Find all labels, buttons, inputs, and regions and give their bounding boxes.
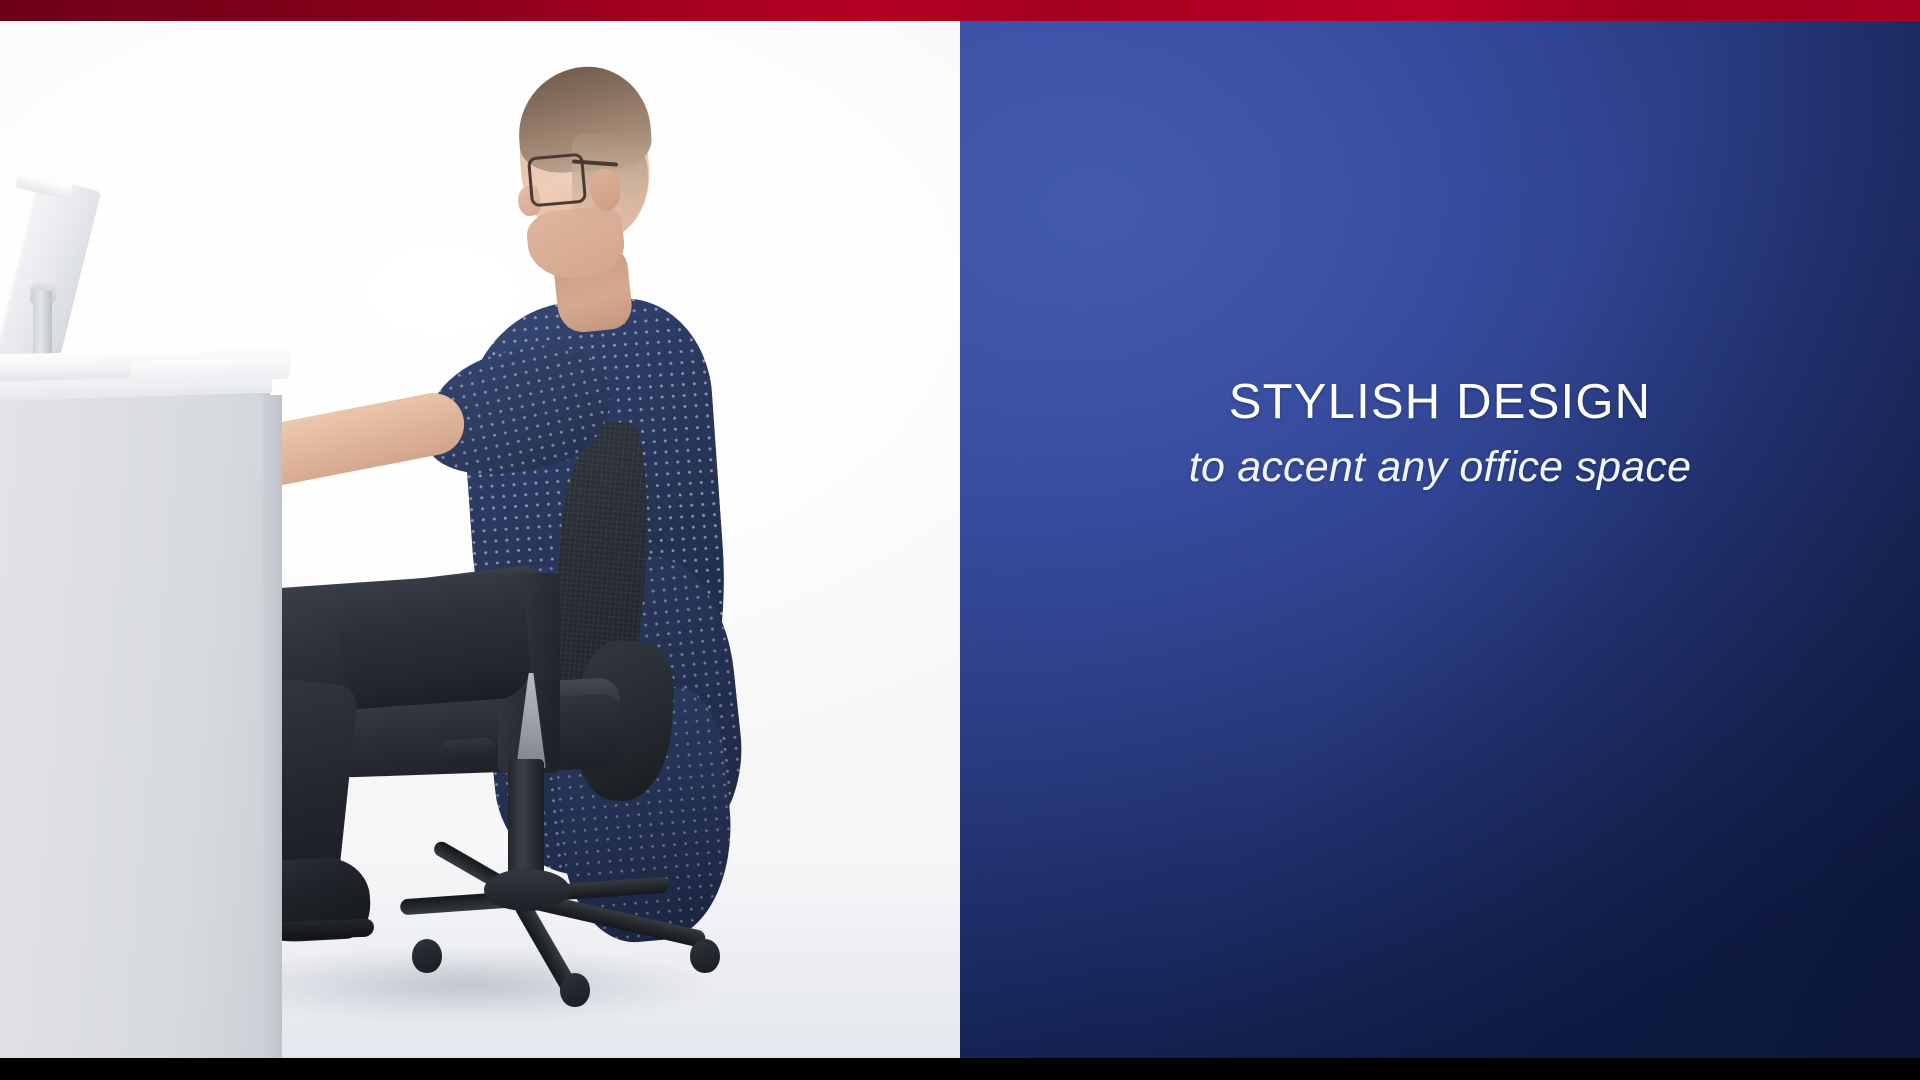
chair-caster — [690, 939, 720, 973]
chair-caster — [560, 973, 590, 1007]
chair-floor-shadow — [230, 950, 700, 1020]
keyboard — [128, 357, 292, 384]
headline-text: STYLISH DESIGN — [960, 376, 1920, 430]
message-text-block: STYLISH DESIGN to accent any office spac… — [960, 376, 1920, 492]
bottom-letterbox-bar — [0, 1058, 1920, 1080]
chair-caster — [412, 939, 442, 973]
subheadline-text: to accent any office space — [960, 443, 1920, 492]
message-panel: STYLISH DESIGN to accent any office spac… — [960, 21, 1920, 1058]
desk-front-panel — [0, 393, 270, 1058]
chair-adjust-paddle — [439, 737, 496, 763]
desk-front-edge — [262, 395, 282, 1058]
chair-base-hub — [484, 869, 570, 911]
slide-canvas: STYLISH DESIGN to accent any office spac… — [0, 0, 1920, 1080]
product-photo-pane — [0, 21, 960, 1058]
panel-grain-texture — [960, 21, 1920, 1058]
top-accent-bar — [0, 0, 1920, 21]
